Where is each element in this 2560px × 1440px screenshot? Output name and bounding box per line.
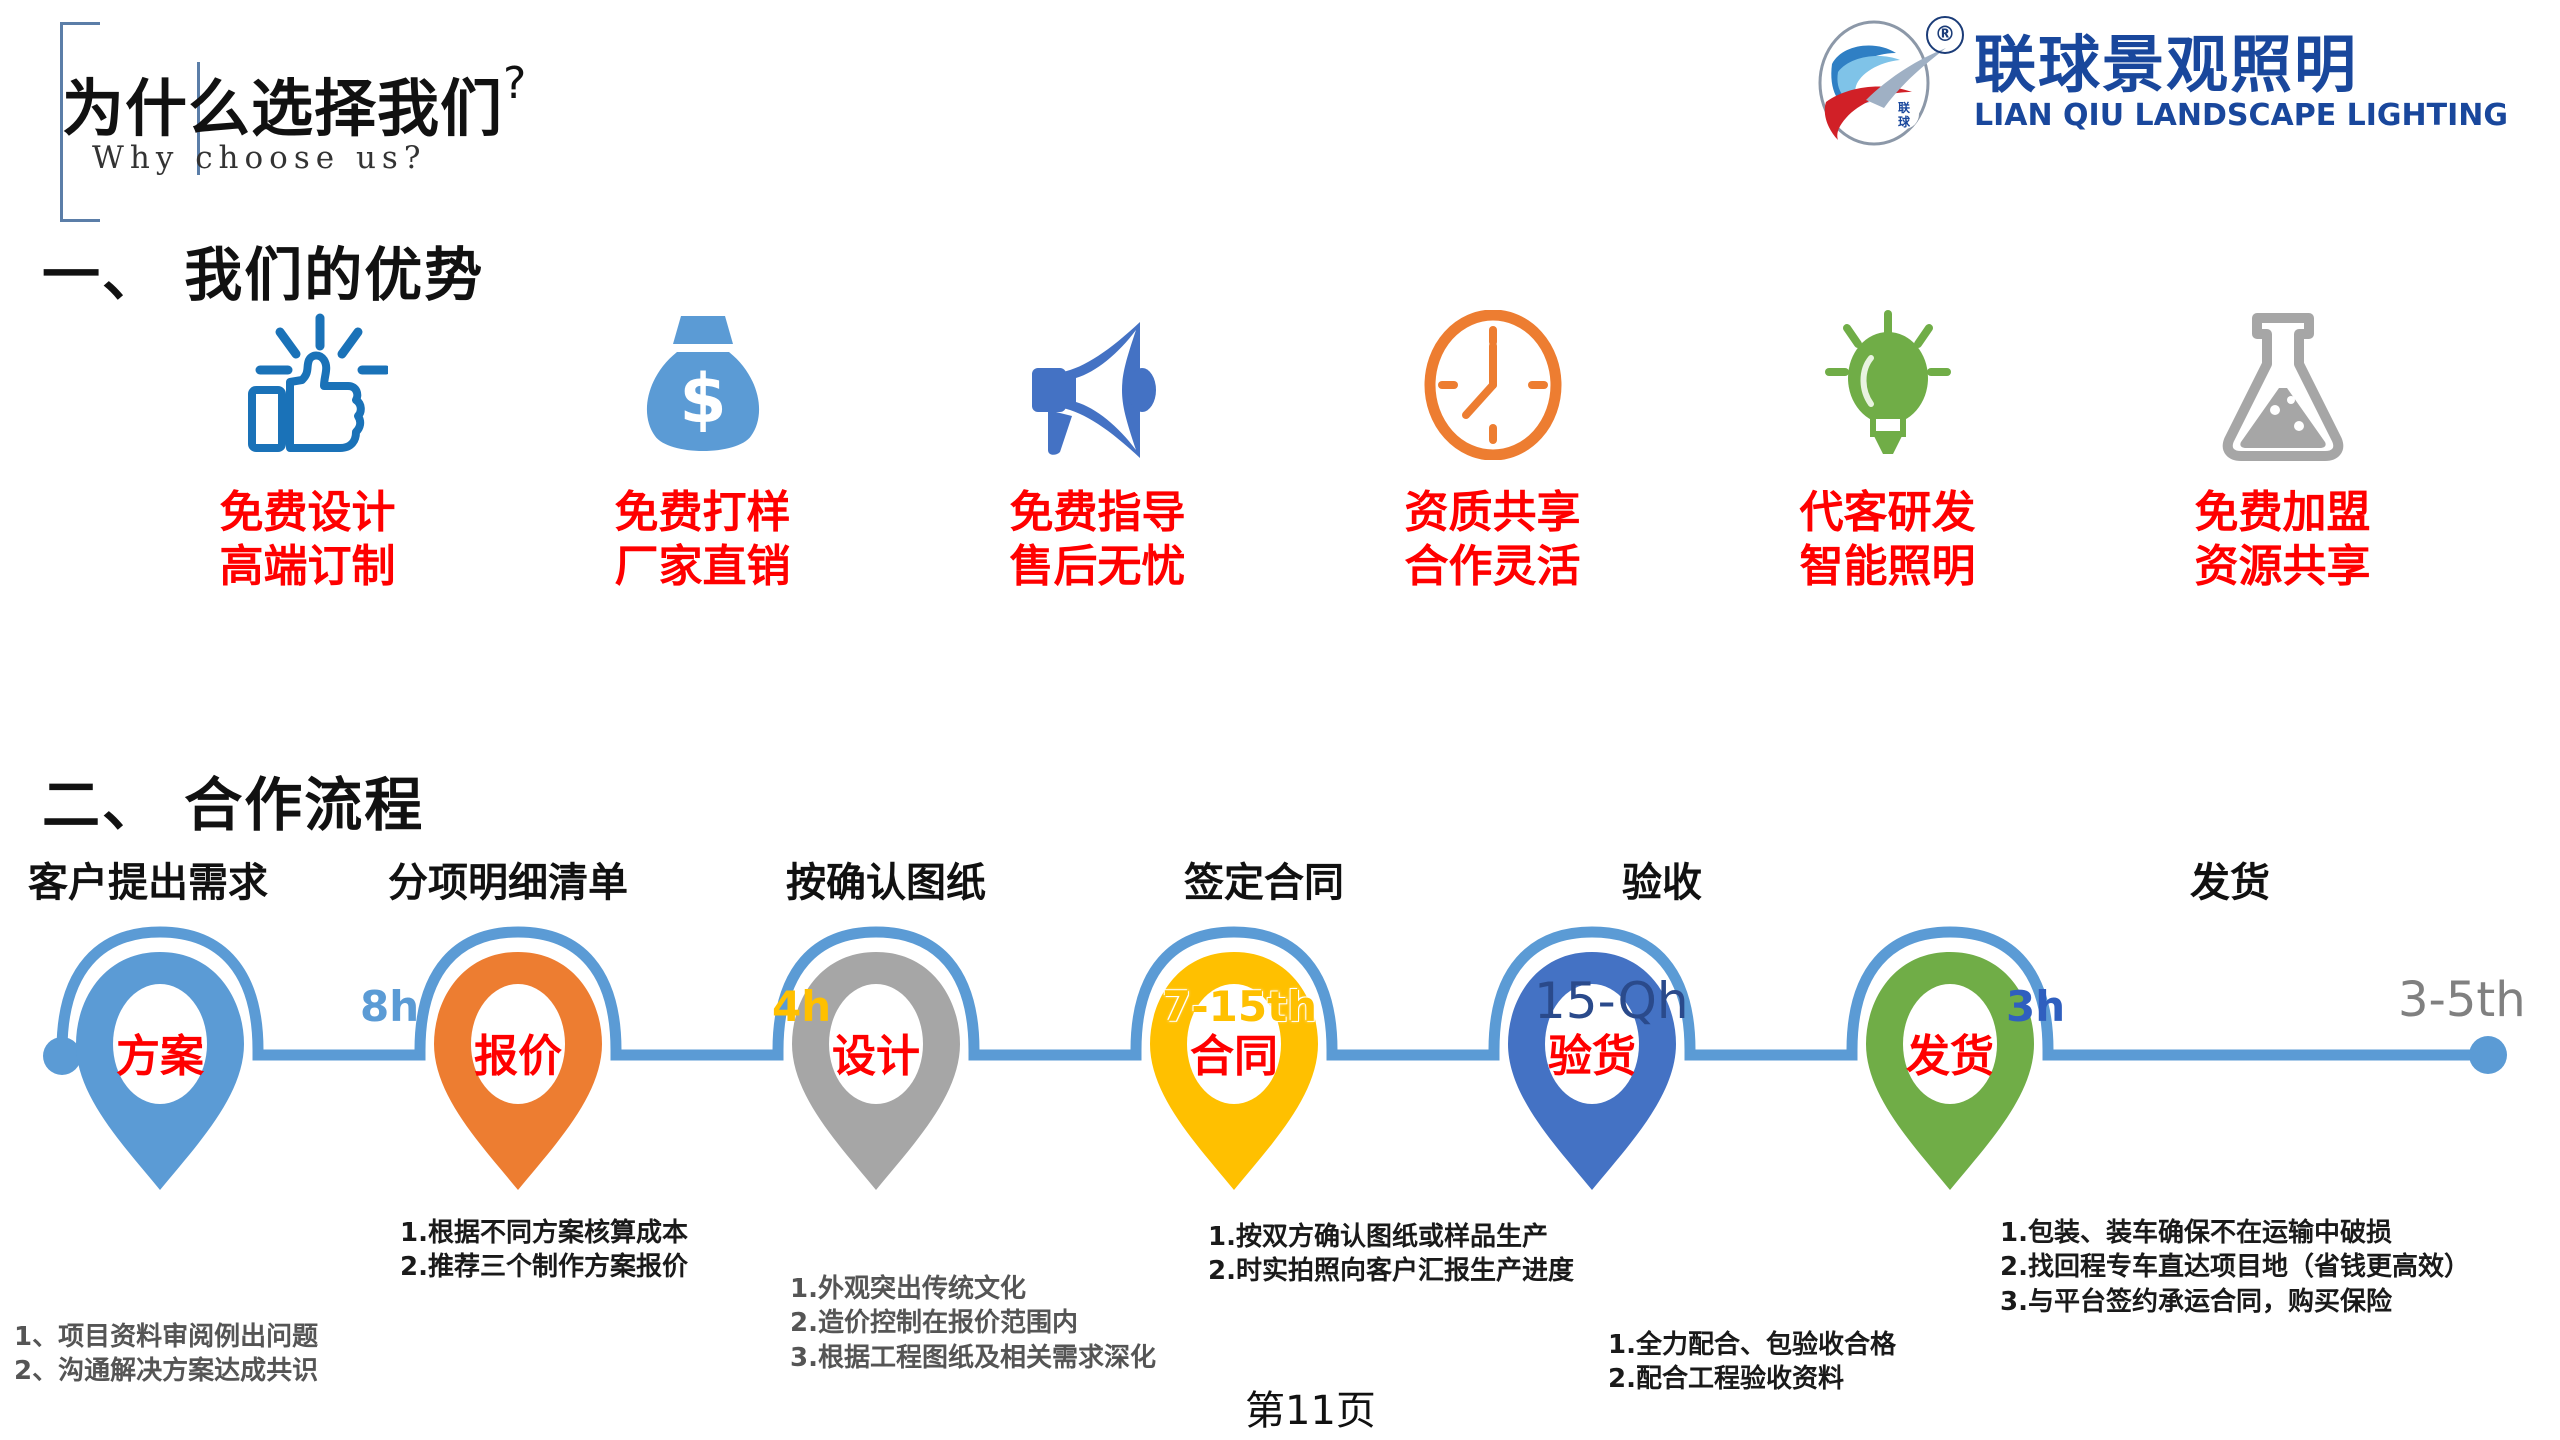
slide-canvas: 为什么选择我们? Why choose us? 联 球 ® 联球景观照明 LIA…	[0, 0, 2560, 1440]
page-number: 第11页	[1245, 1378, 1376, 1436]
megaphone-icon	[1018, 310, 1178, 460]
advantage-label-3-line1: 免费指导	[1010, 486, 1186, 540]
advantage-label-2-line1: 免费打样	[615, 486, 791, 540]
logo-globe-icon: 联 球 ®	[1808, 20, 1958, 146]
svg-text:球: 球	[1898, 114, 1911, 129]
title-frame-gap-top	[100, 12, 250, 62]
advantage-item-5: 代客研发 智能照明	[1690, 310, 2085, 593]
page-title-question-mark: ?	[503, 58, 527, 109]
step-title-3: 按确认图纸	[786, 850, 986, 908]
clock-icon	[1418, 310, 1568, 460]
advantage-label-4: 资质共享 合作灵活	[1405, 486, 1581, 593]
step-title-6: 发货	[2190, 850, 2270, 908]
logo-name-en: LIAN QIU LANDSCAPE LIGHTING	[1974, 98, 2508, 133]
advantage-label-5: 代客研发 智能照明	[1800, 486, 1976, 593]
advantage-item-2: $ 免费打样 厂家直销	[505, 310, 900, 593]
advantage-label-6: 免费加盟 资源共享	[2195, 486, 2371, 593]
advantage-item-1: 免费设计 高端订制	[110, 310, 505, 593]
step-caption-1: 1、项目资料审阅例出问题 2、沟通解决方案达成共识	[14, 1320, 318, 1389]
advantage-label-5-line2: 智能照明	[1800, 540, 1976, 594]
thumbs-up-icon	[228, 310, 388, 460]
step-title-2: 分项明细清单	[388, 850, 628, 908]
step-title-1: 客户提出需求	[28, 850, 268, 908]
advantage-label-1-line2: 高端订制	[220, 540, 396, 594]
company-logo: 联 球 ® 联球景观照明 LIAN QIU LANDSCAPE LIGHTING	[1808, 20, 2508, 146]
duration-label-6: 3-5th	[2398, 972, 2526, 1028]
logo-text-block: 联球景观照明 LIAN QIU LANDSCAPE LIGHTING	[1974, 33, 2508, 133]
advantage-label-6-line1: 免费加盟	[2195, 486, 2371, 540]
advantage-label-1: 免费设计 高端订制	[220, 486, 396, 593]
step-caption-3: 1.外观突出传统文化 2.造价控制在报价范围内 3.根据工程图纸及相关需求深化	[790, 1272, 1156, 1375]
advantage-label-2-line2: 厂家直销	[615, 540, 791, 594]
advantage-label-3: 免费指导 售后无忧	[1010, 486, 1186, 593]
duration-label-2: 4h	[772, 982, 831, 1031]
section-heading-advantages: 一、 我们的优势	[42, 228, 484, 312]
duration-label-1: 8h	[360, 982, 419, 1031]
step-caption-4: 1.按双方确认图纸或样品生产 2.时实拍照向客户汇报生产进度	[1208, 1220, 1574, 1289]
advantage-item-3: 免费指导 售后无忧	[900, 310, 1295, 593]
duration-label-4: 15-Qh	[1534, 972, 1689, 1030]
duration-label-3: 7-15th	[1162, 982, 1317, 1031]
section-heading-process: 二、 合作流程	[42, 758, 424, 842]
advantage-item-6: 免费加盟 资源共享	[2085, 310, 2480, 593]
advantages-row: 免费设计 高端订制 $ 免费打样 厂家直销	[110, 310, 2480, 593]
flask-icon	[2213, 310, 2353, 460]
page-title: 为什么选择我们?	[62, 58, 527, 148]
advantage-label-1-line1: 免费设计	[220, 486, 396, 540]
duration-label-5: 3h	[2006, 982, 2065, 1031]
step-caption-6: 1.包装、装车确保不在运输中破损 2.找回程专车直达项目地（省钱更高效） 3.与…	[2000, 1216, 2470, 1319]
advantage-label-4-line1: 资质共享	[1405, 486, 1581, 540]
svg-text:$: $	[679, 360, 726, 439]
page-title-text: 为什么选择我们	[62, 72, 503, 145]
advantage-label-6-line2: 资源共享	[2195, 540, 2371, 594]
advantage-item-4: 资质共享 合作灵活	[1295, 310, 1690, 593]
pin-label-2: 报价	[426, 1020, 610, 1084]
pin-label-1: 方案	[68, 1020, 252, 1084]
process-timeline: 客户提出需求 分项明细清单 按确认图纸 签定合同 验收 发货 方案 报价 设计 …	[0, 860, 2560, 1440]
logo-name-cn: 联球景观照明	[1974, 33, 2508, 96]
advantage-label-2: 免费打样 厂家直销	[615, 486, 791, 593]
advantage-label-5-line1: 代客研发	[1800, 486, 1976, 540]
title-frame-gap-bottom	[100, 175, 250, 230]
page-subtitle: Why choose us?	[92, 140, 426, 176]
step-caption-2: 1.根据不同方案核算成本 2.推荐三个制作方案报价	[400, 1216, 688, 1285]
svg-text:联: 联	[1898, 101, 1910, 115]
advantage-label-4-line2: 合作灵活	[1405, 540, 1581, 594]
registered-trademark-icon: ®	[1926, 16, 1964, 54]
lightbulb-icon	[1813, 310, 1963, 460]
step-title-4: 签定合同	[1184, 850, 1344, 908]
step-caption-5: 1.全力配合、包验收合格 2.配合工程验收资料	[1608, 1328, 1896, 1397]
money-bag-icon: $	[633, 310, 773, 460]
advantage-label-3-line2: 售后无忧	[1010, 540, 1186, 594]
step-title-5: 验收	[1622, 850, 1702, 908]
